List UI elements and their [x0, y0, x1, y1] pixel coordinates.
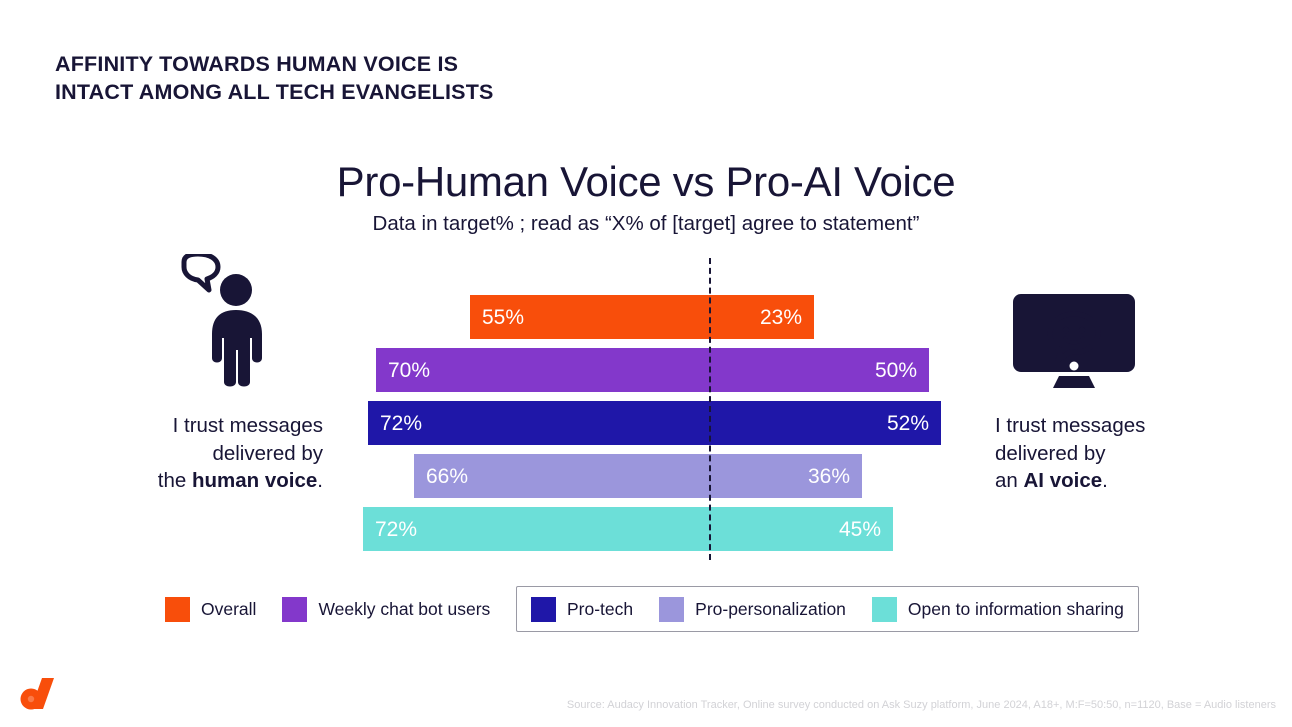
bar-left-value-label: 66% — [414, 466, 480, 487]
bar-left-value-label: 55% — [470, 307, 536, 328]
legend-item[interactable]: Pro-personalization — [659, 597, 846, 622]
bar-left-value-label: 72% — [363, 519, 429, 540]
legend-swatch-icon — [282, 597, 307, 622]
source-note: Source: Audacy Innovation Tracker, Onlin… — [567, 699, 1276, 711]
bar-right-value-label: 36% — [796, 466, 862, 487]
legend-swatch-icon — [872, 597, 897, 622]
bar-right-value-label: 45% — [827, 519, 893, 540]
diverging-bar-chart-plot: 55%23%70%50%72%52%66%36%72%45% — [0, 258, 1292, 563]
bar-right-value-label: 52% — [875, 413, 941, 434]
bar-right-value-label: 50% — [863, 360, 929, 381]
chart-title: Pro-Human Voice vs Pro-AI Voice — [0, 158, 1292, 206]
chart-subtitle: Data in target% ; read as “X% of [target… — [0, 212, 1292, 236]
center-baseline-dashed — [709, 258, 711, 560]
slide-kicker-heading: AFFINITY TOWARDS HUMAN VOICE IS INTACT A… — [55, 50, 494, 107]
bar-3: 72%52% — [368, 401, 941, 445]
audacy-logo — [20, 678, 58, 715]
legend-label: Open to information sharing — [908, 599, 1124, 620]
kicker-line-1: AFFINITY TOWARDS HUMAN VOICE IS — [55, 50, 494, 78]
slide-canvas: AFFINITY TOWARDS HUMAN VOICE IS INTACT A… — [0, 0, 1292, 727]
legend-group-primary: OverallWeekly chat bot users — [165, 586, 490, 632]
bar-4: 66%36% — [414, 454, 862, 498]
legend-swatch-icon — [659, 597, 684, 622]
legend-item[interactable]: Overall — [165, 597, 256, 622]
bar-right-value-label: 23% — [748, 307, 814, 328]
legend-label: Pro-personalization — [695, 599, 846, 620]
legend-swatch-icon — [531, 597, 556, 622]
kicker-line-2: INTACT AMONG ALL TECH EVANGELISTS — [55, 78, 494, 106]
legend-label: Weekly chat bot users — [318, 599, 490, 620]
legend-item[interactable]: Weekly chat bot users — [282, 597, 490, 622]
bar-left-value-label: 72% — [368, 413, 434, 434]
bar-2: 70%50% — [376, 348, 929, 392]
bar-5: 72%45% — [363, 507, 893, 551]
bar-left-value-label: 70% — [376, 360, 442, 381]
legend-swatch-icon — [165, 597, 190, 622]
legend-group-segments: Pro-techPro-personalizationOpen to infor… — [516, 586, 1139, 632]
legend-item[interactable]: Pro-tech — [531, 597, 633, 622]
legend-label: Overall — [201, 599, 256, 620]
legend-item[interactable]: Open to information sharing — [872, 597, 1124, 622]
bar-1: 55%23% — [470, 295, 814, 339]
legend-label: Pro-tech — [567, 599, 633, 620]
